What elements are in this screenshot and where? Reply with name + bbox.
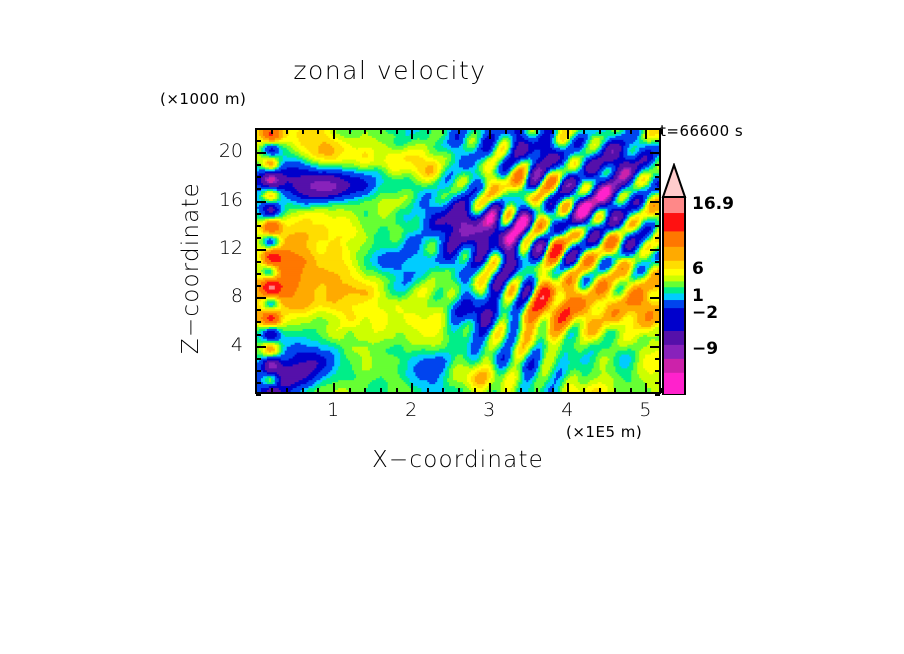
x-minor-tick-top — [552, 129, 554, 134]
x-minor-tick-top — [520, 129, 522, 134]
x-tick-label: 4 — [547, 399, 587, 421]
x-major-tick-top — [333, 129, 335, 139]
page-title: zonal velocity — [0, 56, 780, 85]
x-minor-tick-top — [349, 129, 351, 134]
x-minor-tick — [286, 388, 288, 393]
y-minor-tick — [256, 237, 261, 239]
x-minor-tick-top — [583, 129, 585, 134]
y-tick-label: 16 — [197, 189, 243, 211]
colorbar-band — [663, 344, 685, 359]
colorbar-band — [663, 275, 685, 281]
y-minor-tick — [256, 261, 261, 263]
x-tick-label: 5 — [625, 399, 665, 421]
x-minor-tick-top — [427, 129, 429, 134]
x-axis-unit-label: (×1E5 m) — [566, 423, 642, 441]
y-minor-tick — [256, 225, 261, 227]
y-axis-title: Z−coordinate — [178, 65, 204, 471]
x-major-tick — [411, 383, 413, 393]
colorbar-band — [663, 330, 685, 345]
colorbar-band — [663, 246, 685, 261]
x-major-tick-top — [489, 129, 491, 139]
x-minor-tick — [396, 388, 398, 393]
colorbar-band — [663, 358, 685, 373]
x-minor-tick — [255, 388, 257, 393]
x-major-tick — [333, 383, 335, 393]
y-minor-tick — [256, 140, 261, 142]
figure-canvas: zonal velocity (×1000 m) (×1E5 m) X−coor… — [0, 0, 904, 654]
x-minor-tick — [364, 388, 366, 393]
y-minor-tick-right — [655, 140, 660, 142]
x-minor-tick — [427, 388, 429, 393]
x-minor-tick-top — [396, 129, 398, 134]
x-minor-tick — [442, 388, 444, 393]
x-minor-tick — [505, 388, 507, 393]
x-minor-tick — [302, 388, 304, 393]
y-major-tick — [256, 152, 266, 154]
x-axis-title: X−coordinate — [255, 447, 661, 473]
y-minor-tick — [256, 273, 261, 275]
x-tick-label: 1 — [313, 399, 353, 421]
x-minor-tick-top — [271, 129, 273, 134]
x-minor-tick-top — [536, 129, 538, 134]
y-major-tick-right — [650, 201, 660, 203]
y-minor-tick — [256, 321, 261, 323]
x-tick-label: 2 — [391, 399, 431, 421]
x-minor-tick-top — [614, 129, 616, 134]
y-major-tick-right — [650, 152, 660, 154]
x-minor-tick-top — [286, 129, 288, 134]
y-tick-label: 8 — [197, 285, 243, 307]
x-minor-tick — [552, 388, 554, 393]
colorbar-band — [663, 281, 685, 287]
x-major-tick-top — [567, 129, 569, 139]
x-minor-tick-top — [630, 129, 632, 134]
y-minor-tick — [256, 394, 261, 396]
x-minor-tick-top — [442, 129, 444, 134]
x-minor-tick-top — [599, 129, 601, 134]
y-major-tick-right — [650, 249, 660, 251]
x-minor-tick — [380, 388, 382, 393]
colorbar-band — [663, 197, 685, 213]
x-minor-tick — [349, 388, 351, 393]
y-minor-tick — [256, 188, 261, 190]
x-minor-tick — [614, 388, 616, 393]
y-major-tick-right — [650, 297, 660, 299]
x-minor-tick — [474, 388, 476, 393]
x-minor-tick — [271, 388, 273, 393]
contour-field — [257, 130, 659, 392]
x-minor-tick — [599, 388, 601, 393]
x-minor-tick — [520, 388, 522, 393]
y-minor-tick — [256, 176, 261, 178]
colorbar-band — [663, 372, 685, 395]
colorbar — [660, 163, 690, 395]
y-minor-tick — [256, 164, 261, 166]
x-major-tick — [567, 383, 569, 393]
contour-plot-area — [255, 128, 661, 394]
y-minor-tick — [256, 285, 261, 287]
colorbar-band — [663, 293, 685, 300]
y-minor-tick — [256, 358, 261, 360]
colorbar-band — [663, 287, 685, 294]
y-tick-label: 12 — [197, 237, 243, 259]
y-minor-tick — [256, 128, 261, 130]
colorbar-band — [663, 308, 685, 331]
colorbar-band — [663, 268, 685, 275]
colorbar-band — [663, 212, 685, 231]
x-minor-tick-top — [458, 129, 460, 134]
x-minor-tick-top — [364, 129, 366, 134]
x-minor-tick — [630, 388, 632, 393]
x-major-tick-top — [645, 129, 647, 139]
x-minor-tick — [536, 388, 538, 393]
x-tick-label: 3 — [469, 399, 509, 421]
x-major-tick — [645, 383, 647, 393]
x-minor-tick — [458, 388, 460, 393]
colorbar-band — [663, 299, 685, 308]
y-major-tick — [256, 297, 266, 299]
x-minor-tick — [583, 388, 585, 393]
x-minor-tick — [317, 388, 319, 393]
x-minor-tick-top — [302, 129, 304, 134]
colorbar-swatches — [660, 163, 690, 395]
colorbar-tick-label: −9 — [692, 339, 718, 359]
y-minor-tick — [256, 334, 261, 336]
y-major-tick — [256, 346, 266, 348]
y-minor-tick — [256, 309, 261, 311]
colorbar-tick-label: 6 — [692, 259, 704, 279]
y-major-tick-right — [650, 346, 660, 348]
y-major-tick — [256, 249, 266, 251]
timestamp-label: t=66600 s — [660, 122, 743, 140]
y-minor-tick — [256, 370, 261, 372]
y-tick-label: 4 — [197, 334, 243, 356]
colorbar-tick-label: 16.9 — [692, 194, 734, 214]
x-major-tick — [489, 383, 491, 393]
x-minor-tick-top — [474, 129, 476, 134]
x-minor-tick-top — [505, 129, 507, 134]
x-minor-tick-top — [317, 129, 319, 134]
y-tick-label: 20 — [197, 140, 243, 162]
colorbar-band — [663, 231, 685, 247]
y-major-tick — [256, 201, 266, 203]
colorbar-extend-arrow — [663, 165, 685, 197]
y-minor-tick — [256, 213, 261, 215]
colorbar-tick-label: −2 — [692, 303, 718, 323]
colorbar-band — [663, 260, 685, 269]
y-minor-tick — [256, 382, 261, 384]
x-minor-tick-top — [380, 129, 382, 134]
x-major-tick-top — [411, 129, 413, 139]
